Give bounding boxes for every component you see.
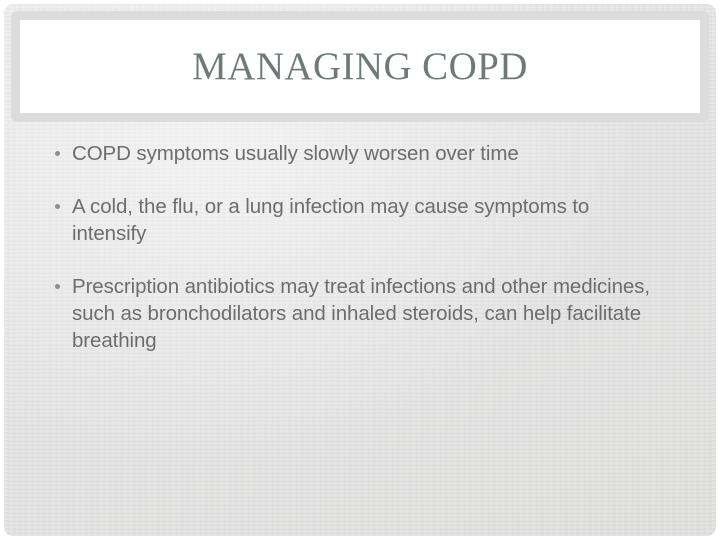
- list-item: Prescription antibiotics may treat infec…: [52, 273, 652, 354]
- bullet-list: COPD symptoms usually slowly worsen over…: [52, 140, 652, 354]
- list-item-label: Prescription antibiotics may treat infec…: [72, 273, 652, 354]
- list-item-label: COPD symptoms usually slowly worsen over…: [72, 140, 652, 167]
- list-item-label: A cold, the flu, or a lung infection may…: [72, 193, 652, 247]
- bullet-dot-icon: [55, 284, 60, 289]
- title-frame: Managing COPD: [11, 11, 709, 122]
- list-item: A cold, the flu, or a lung infection may…: [52, 193, 652, 247]
- title-plate: Managing COPD: [20, 20, 700, 113]
- bullet-dot-icon: [55, 151, 60, 156]
- list-item: COPD symptoms usually slowly worsen over…: [52, 140, 652, 167]
- page-title: Managing COPD: [192, 47, 528, 86]
- bullet-dot-icon: [55, 204, 60, 209]
- presentation-slide: Managing COPD COPD symptoms usually slow…: [0, 0, 720, 540]
